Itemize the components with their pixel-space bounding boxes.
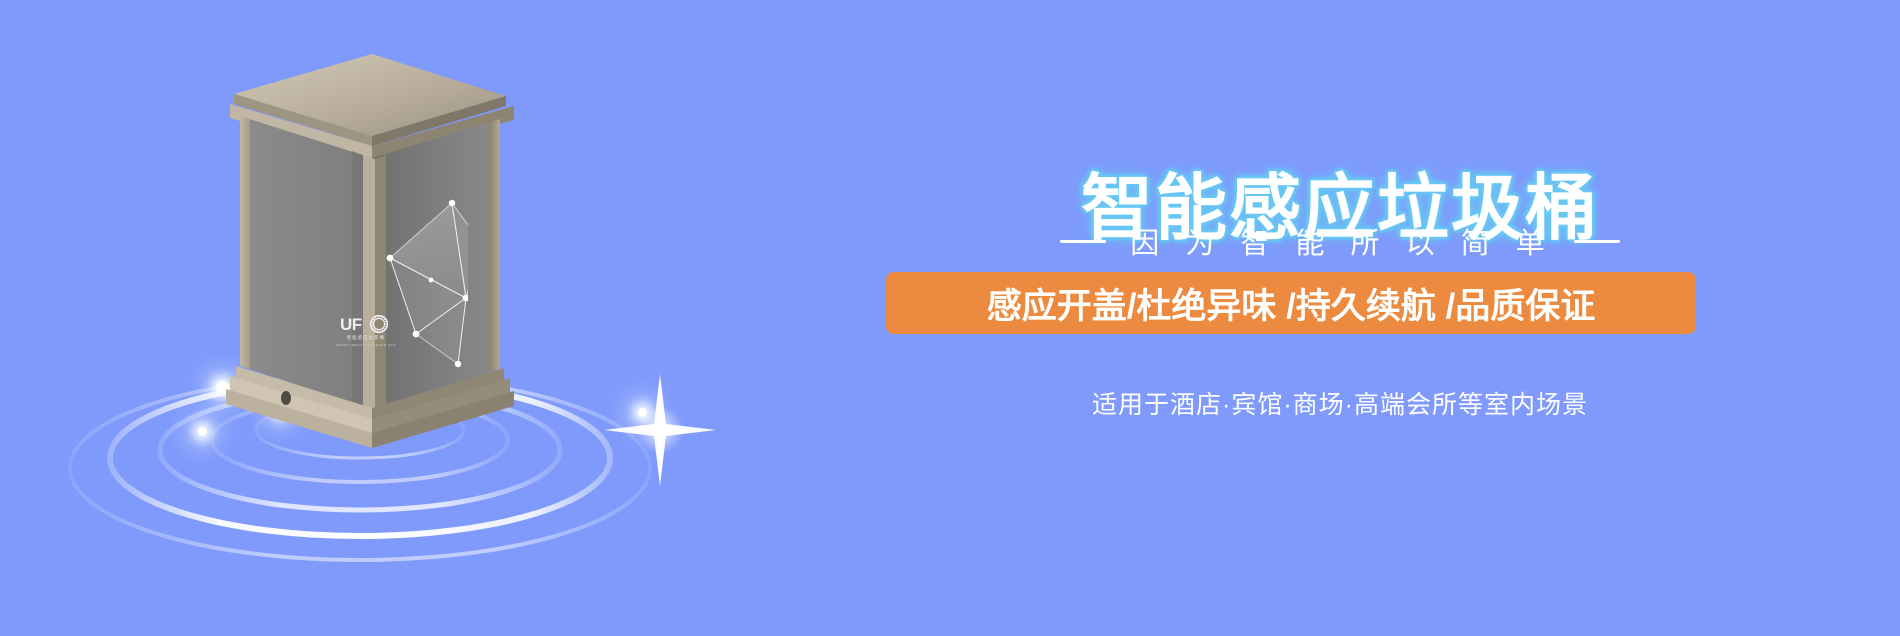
promo-banner: UF 智能感应垃圾桶 SMART INDUCTION TRASH CAN 智能感… bbox=[0, 0, 1900, 636]
subline: 因 为 智 能 所 以 简 单 bbox=[860, 220, 1820, 262]
features-badge: 感应开盖/杜绝异味 /持久续航 /品质保证 bbox=[886, 272, 1696, 334]
copy-block: 智能感应垃圾桶 因 为 智 能 所 以 简 单 感应开盖/杜绝异味 /持久续航 … bbox=[860, 0, 1850, 636]
product-scene: UF 智能感应垃圾桶 SMART INDUCTION TRASH CAN bbox=[60, 0, 760, 636]
rule-left-icon bbox=[1060, 240, 1106, 243]
trash-bin-product: UF 智能感应垃圾桶 SMART INDUCTION TRASH CAN bbox=[220, 48, 520, 448]
rule-right-icon bbox=[1574, 240, 1620, 243]
features-badge-text: 感应开盖/杜绝异味 /持久续航 /品质保证 bbox=[987, 278, 1596, 329]
use-case-line: 适用于酒店·宾馆·商场·高端会所等室内场景 bbox=[860, 385, 1820, 421]
glow-dot-icon bbox=[198, 427, 207, 436]
subline-text: 因 为 智 能 所 以 简 单 bbox=[1126, 220, 1553, 262]
four-point-star-icon bbox=[600, 370, 720, 490]
